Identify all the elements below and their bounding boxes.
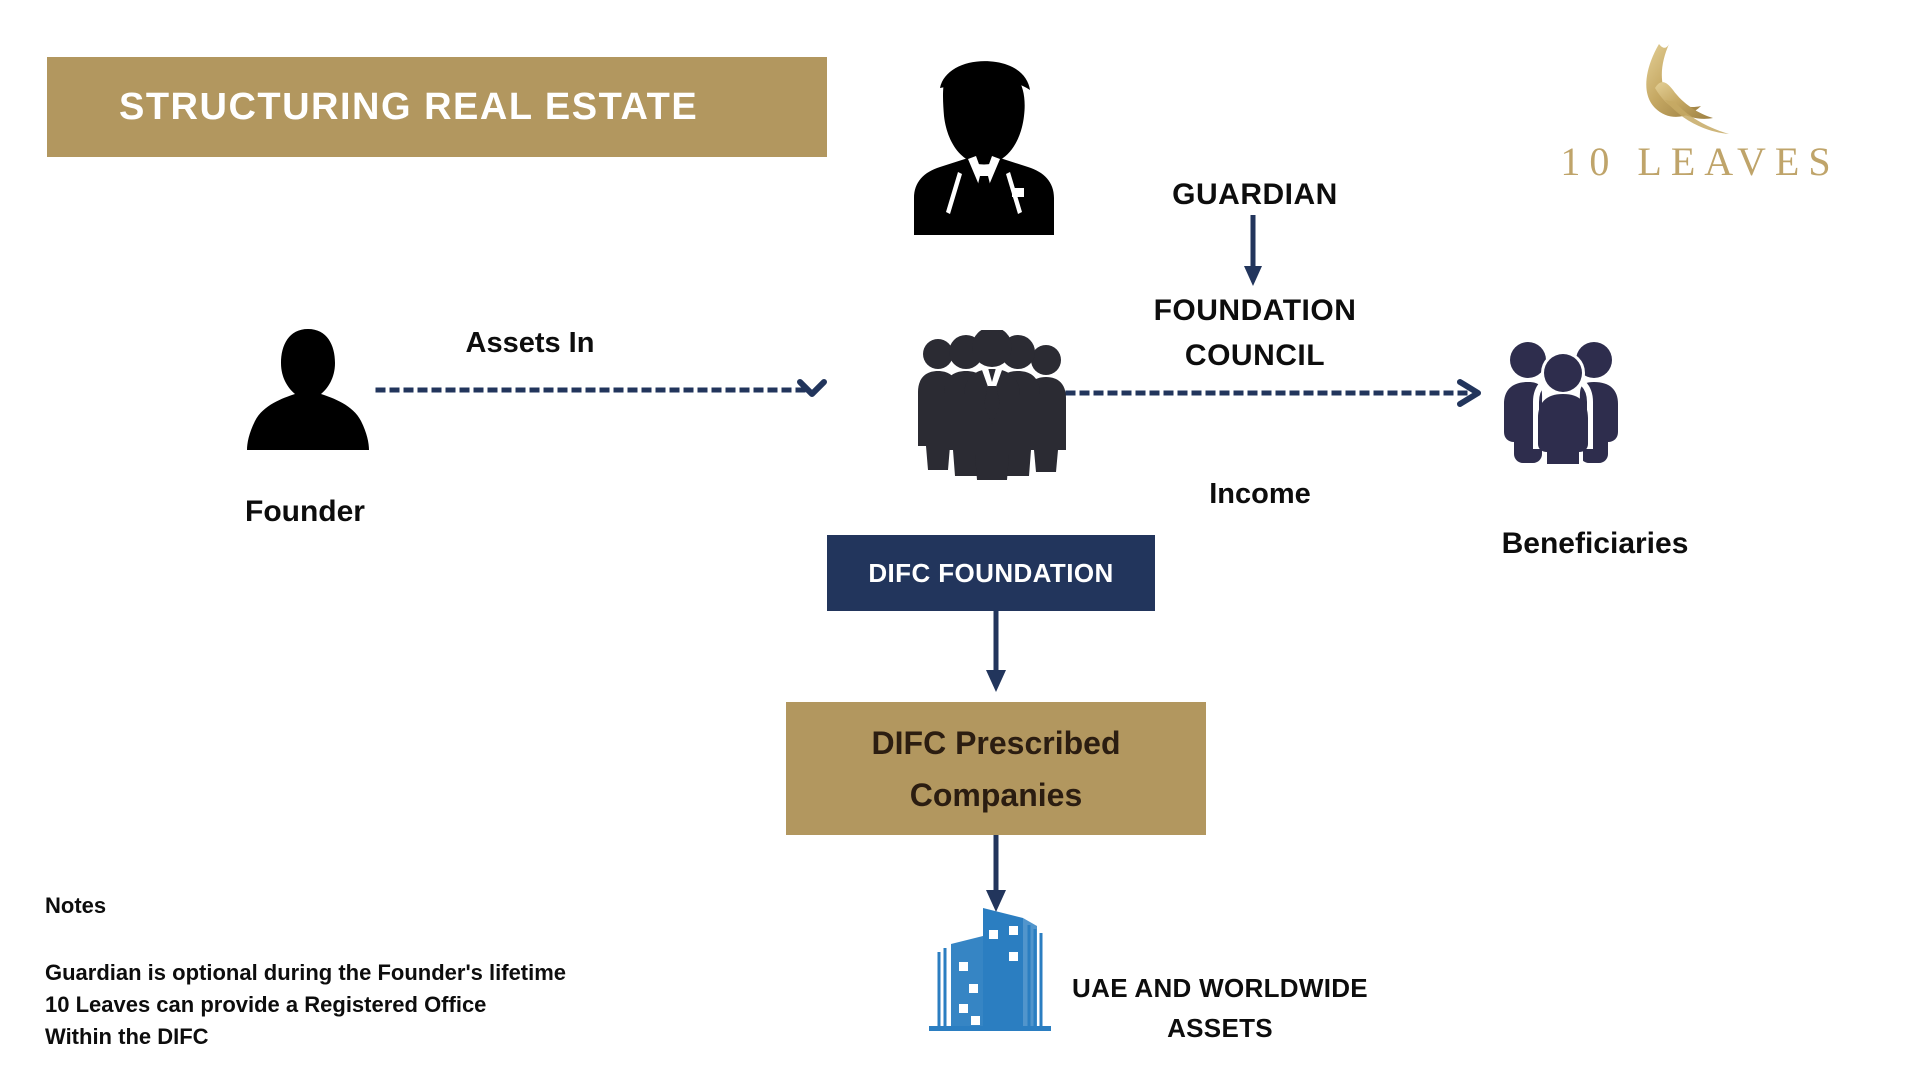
person-silhouette-icon	[243, 325, 373, 450]
income-label: Income	[1140, 478, 1380, 511]
office-buildings-icon	[925, 900, 1055, 1035]
uae-worldwide-assets-line1: UAE AND WORLDWIDE	[1055, 968, 1385, 1008]
difc-foundation-box-label: DIFC FOUNDATION	[868, 558, 1113, 589]
assets-in-connector	[378, 382, 824, 394]
income-connector	[1040, 382, 1478, 404]
uae-worldwide-assets-label: UAE AND WORLDWIDE ASSETS	[1055, 968, 1385, 1048]
foundation-council-label-line2: COUNCIL	[1115, 333, 1395, 378]
guardian-to-council-arrow	[1244, 215, 1262, 286]
logo-wordmark: 10 LEAVES	[1545, 138, 1855, 185]
three-people-icon	[1498, 340, 1628, 465]
founder-label: Founder	[180, 495, 430, 529]
brand-logo: 10 LEAVES	[1545, 38, 1855, 188]
foundation-to-companies-arrow	[986, 611, 1006, 692]
notes-line: Guardian is optional during the Founder'…	[45, 957, 745, 989]
page-title-banner: STRUCTURING REAL ESTATE	[47, 57, 827, 157]
notes-section: Notes Guardian is optional during the Fo…	[45, 893, 745, 1053]
prescribed-companies-line1: DIFC Prescribed	[872, 725, 1121, 761]
assets-in-label: Assets In	[380, 327, 680, 360]
foundation-council-label: FOUNDATION COUNCIL	[1115, 288, 1395, 378]
notes-line: 10 Leaves can provide a Registered Offic…	[45, 989, 745, 1021]
guardian-label: GUARDIAN	[1130, 178, 1380, 212]
leaf-icon	[1625, 38, 1735, 143]
slide-canvas: STRUCTURING REAL ESTATE 10 LEAVES	[0, 0, 1920, 1080]
businessman-silhouette-icon	[900, 60, 1070, 235]
prescribed-companies-line2: Companies	[910, 777, 1082, 813]
group-of-people-icon	[912, 330, 1072, 480]
difc-foundation-box: DIFC FOUNDATION	[827, 535, 1155, 611]
foundation-council-label-line1: FOUNDATION	[1115, 288, 1395, 333]
difc-prescribed-companies-box: DIFC Prescribed Companies	[786, 702, 1206, 835]
difc-prescribed-companies-box-label: DIFC Prescribed Companies	[872, 717, 1121, 821]
uae-worldwide-assets-line2: ASSETS	[1055, 1008, 1385, 1048]
beneficiaries-label: Beneficiaries	[1425, 527, 1765, 561]
page-title: STRUCTURING REAL ESTATE	[119, 86, 698, 129]
notes-line: Within the DIFC	[45, 1021, 745, 1053]
notes-heading: Notes	[45, 893, 745, 919]
